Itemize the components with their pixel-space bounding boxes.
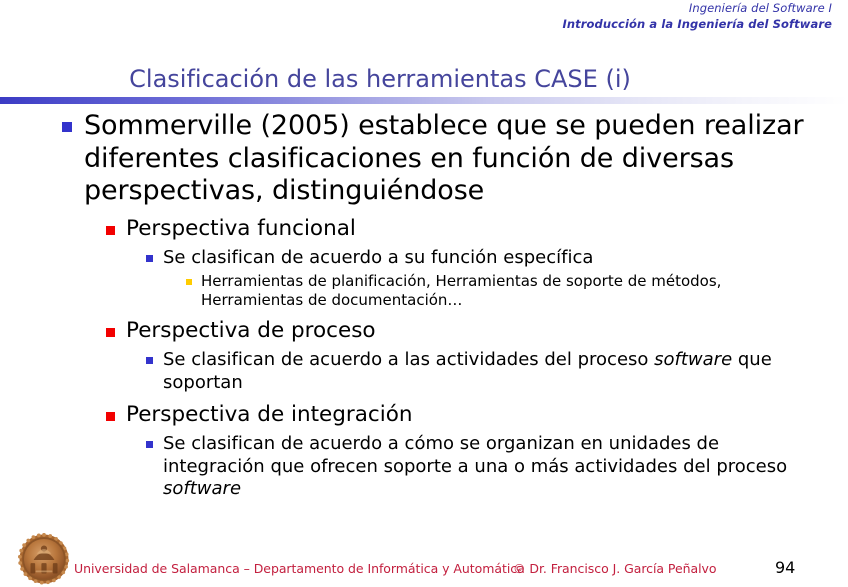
header-topic-line: Introducción a la Ingeniería del Softwar… <box>0 16 832 32</box>
slide-header: Ingeniería del Software I Introducción a… <box>0 0 848 32</box>
bullet-item-level3-actividades-del-proceso: Se clasifican de acuerdo a las actividad… <box>0 349 848 394</box>
bullet-item-level3-funcion-especifica: Se clasifican de acuerdo a su función es… <box>0 247 848 270</box>
bullet-item-level1-sommerville: Sommerville (2005) establece que se pued… <box>0 110 848 208</box>
square-bullet-red-icon <box>106 412 115 421</box>
universidad-de-salamanca-seal-logo-icon <box>18 533 70 585</box>
bullet-item-level4-herramientas: Herramientas de planificación, Herramien… <box>0 272 848 310</box>
slide-body: Sommerville (2005) establece que se pued… <box>0 110 848 501</box>
slide-footer: Universidad de Salamanca – Departamento … <box>0 525 848 587</box>
square-bullet-red-icon <box>106 328 115 337</box>
bullet-text-emphasis: software <box>654 349 732 370</box>
footer-author-copyright: © Dr. Francisco J. García Peñalvo <box>513 561 716 576</box>
square-bullet-blue-icon <box>146 255 153 262</box>
square-bullet-blue-icon <box>146 441 153 448</box>
bullet-item-level3-unidades-de-integracion: Se clasifican de acuerdo a cómo se organ… <box>0 433 848 501</box>
title-divider-rule <box>0 97 848 104</box>
square-bullet-yellow-icon <box>186 279 192 285</box>
bullet-item-level2-perspectiva-funcional: Perspectiva funcional <box>0 216 848 242</box>
bullet-text: Herramientas de planificación, Herramien… <box>201 272 796 310</box>
header-course-line: Ingeniería del Software I <box>0 0 832 16</box>
footer-institution: Universidad de Salamanca – Departamento … <box>74 561 525 576</box>
bullet-text: Perspectiva de proceso <box>126 318 824 344</box>
square-bullet-red-icon <box>106 226 115 235</box>
bullet-text: Se clasifican de acuerdo a cómo se organ… <box>163 433 798 501</box>
square-bullet-blue-icon <box>146 357 153 364</box>
square-bullet-blue-icon <box>62 122 72 132</box>
bullet-text: Perspectiva de integración <box>126 402 824 428</box>
bullet-text: Sommerville (2005) establece que se pued… <box>84 110 824 208</box>
page-title: Clasificación de las herramientas CASE (… <box>0 63 760 95</box>
bullet-text: Se clasifican de acuerdo a las actividad… <box>163 349 798 394</box>
bullet-text-part: Se clasifican de acuerdo a las actividad… <box>163 349 654 370</box>
bullet-item-level2-perspectiva-de-integracion: Perspectiva de integración <box>0 402 848 428</box>
bullet-text: Se clasifican de acuerdo a su función es… <box>163 247 798 270</box>
bullet-text-part: Se clasifican de acuerdo a cómo se organ… <box>163 433 787 477</box>
bullet-text-emphasis: software <box>163 478 241 499</box>
bullet-text: Perspectiva funcional <box>126 216 824 242</box>
slide-page-number: 94 <box>775 558 795 577</box>
bullet-item-level2-perspectiva-de-proceso: Perspectiva de proceso <box>0 318 848 344</box>
